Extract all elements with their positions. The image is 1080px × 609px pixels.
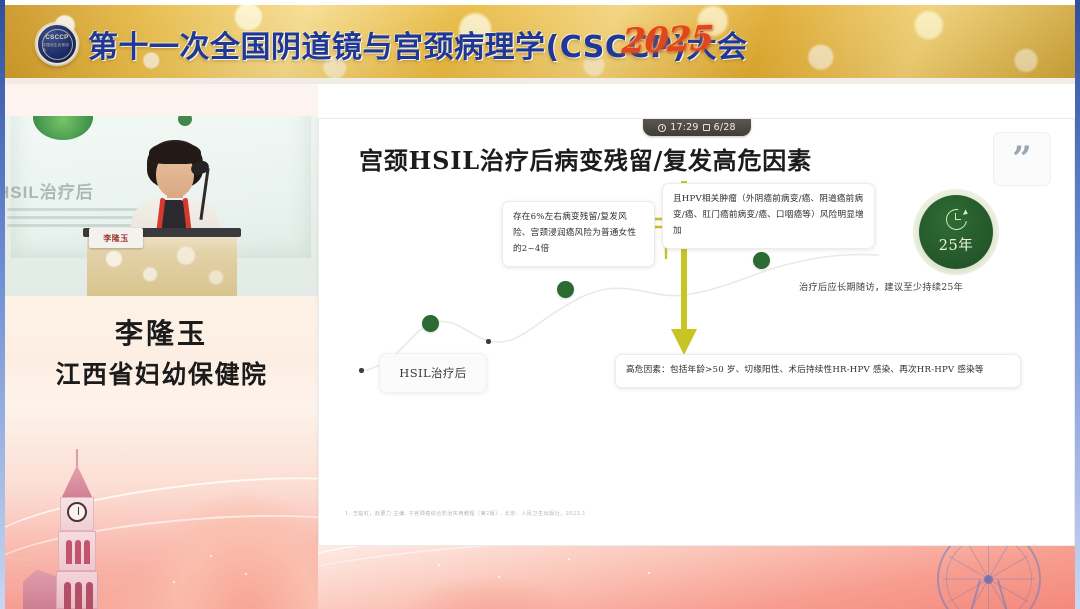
speaker-hair-front xyxy=(149,142,201,164)
year-badge-label: 25年 xyxy=(939,234,973,255)
speaker-panel: HSIL治疗后 李隆玉 李隆玉 江西省妇幼保健院 xyxy=(5,84,318,609)
followup-note: 治疗后应长期随访，建议至少持续25年 xyxy=(799,279,963,293)
callout-residual-risk: 存在6%左右病变残留/复发风险、宫颈浸润癌风险为普通女性的2~4倍 xyxy=(502,201,655,267)
data-point-large xyxy=(422,315,439,332)
calendar-icon xyxy=(703,124,710,131)
slide-title: 宫颈HSIL治疗后病变残留/复发高危因素 xyxy=(359,141,812,176)
sparkle xyxy=(438,564,440,566)
speaker-caption-card: 李隆玉 江西省妇幼保健院 xyxy=(5,296,318,406)
quote-decoration: ” xyxy=(994,133,1050,185)
presentation-slide: 17:29 6/28 宫颈HSIL治疗后病变残留/复发高危因素 ” HSIL治疗… xyxy=(318,118,1075,546)
speaker-organization: 江西省妇幼保健院 xyxy=(55,355,267,391)
status-date: 6/28 xyxy=(714,122,736,133)
ferris-hub xyxy=(984,575,993,584)
left-edge-rail xyxy=(0,0,5,609)
slide-top-margin xyxy=(318,84,1075,118)
year-badge: 25年 xyxy=(919,195,993,269)
sparkle xyxy=(210,555,212,557)
app-root: CSCCP 中国优生优育协会 第十一次全国阴道镜与宫颈病理学(CSCCP)大会 … xyxy=(0,0,1080,609)
banner-top-band xyxy=(0,0,1080,5)
decorative-artwork-bottom xyxy=(318,546,1075,609)
decorative-artwork-left xyxy=(5,406,318,609)
clock-icon xyxy=(658,124,666,132)
quote-glyph: ” xyxy=(1012,142,1032,176)
backdrop-title: HSIL治疗后 xyxy=(5,178,94,203)
banner-year: 2025 xyxy=(620,18,714,61)
logo-text: CSCCP xyxy=(45,35,68,41)
sparkle xyxy=(245,573,247,575)
status-time: 17:29 xyxy=(670,122,698,133)
tower-spire xyxy=(76,449,78,467)
sparkle xyxy=(568,558,570,560)
tower-roof xyxy=(61,465,93,499)
csccp-logo-icon: CSCCP 中国优生优育协会 xyxy=(36,23,78,65)
sparkle xyxy=(498,576,500,578)
podium-nameplate: 李隆玉 xyxy=(89,228,143,248)
sparkle xyxy=(173,581,175,583)
callout-hpv-tumor-risk: 且HPV相关肿瘤（外阴癌前病变/癌、阴道癌前病变/癌、肛门癌前病变/癌、口咽癌等… xyxy=(662,183,875,249)
podium-nameplate-text: 李隆玉 xyxy=(103,233,129,244)
callout-high-risk-factors: 高危因素：包括年龄>50 岁、切缘阳性、术后持续性HR-HPV 感染、再次HR-… xyxy=(615,354,1021,388)
speaker-video-feed: HSIL治疗后 李隆玉 xyxy=(5,116,318,296)
tower-lower-section xyxy=(56,571,98,609)
slide-citation: 1. 王临虹，赵更力 主编. 子宫颈癌综合防治实用教程（第2版）. 北京：人民卫… xyxy=(345,510,586,517)
clock-tower-icon xyxy=(53,449,101,609)
sparkle xyxy=(648,572,650,574)
status-time-badge: 17:29 6/28 xyxy=(643,119,751,136)
conference-banner: CSCCP 中国优生优育协会 第十一次全国阴道镜与宫颈病理学(CSCCP)大会 … xyxy=(0,0,1080,84)
logo-inner-ring: CSCCP 中国优生优育协会 xyxy=(42,29,73,60)
right-edge-rail xyxy=(1075,0,1080,609)
tower-clock-face-icon xyxy=(67,502,87,522)
logo-subtext: 中国优生优育协会 xyxy=(43,43,72,53)
ferris-wheel-icon xyxy=(931,546,1047,609)
speaker-name: 李隆玉 xyxy=(115,312,208,352)
data-point-large xyxy=(753,252,770,269)
data-point-large xyxy=(557,281,574,298)
clock-arrow-icon xyxy=(946,209,967,230)
data-point-small xyxy=(359,368,364,373)
data-point-small xyxy=(486,339,491,344)
chart-start-label: HSIL治疗后 xyxy=(379,353,487,393)
tower-mid-section xyxy=(58,531,96,571)
